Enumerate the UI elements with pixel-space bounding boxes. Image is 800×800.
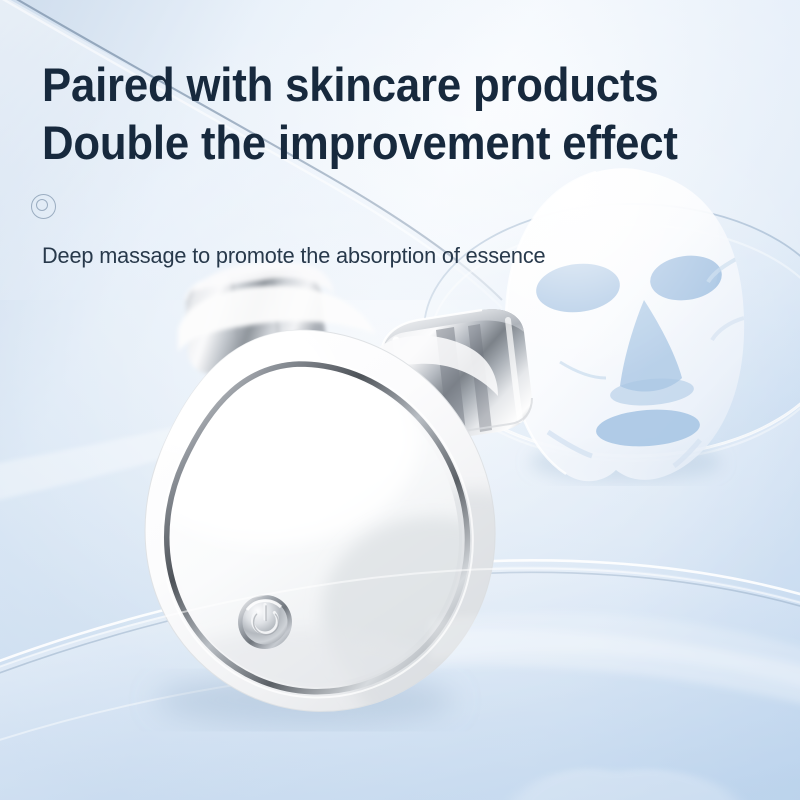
page-title: Paired with skincare products Double the… xyxy=(42,56,712,172)
headline-line-2: Double the improvement effect xyxy=(42,114,712,172)
product-marketing-banner: Paired with skincare products Double the… xyxy=(0,0,800,800)
device-body xyxy=(95,300,610,750)
power-button[interactable] xyxy=(238,595,292,649)
ring-marker-icon xyxy=(31,194,56,219)
page-subtitle: Deep massage to promote the absorption o… xyxy=(42,242,545,270)
headline-line-1: Paired with skincare products xyxy=(42,56,712,114)
